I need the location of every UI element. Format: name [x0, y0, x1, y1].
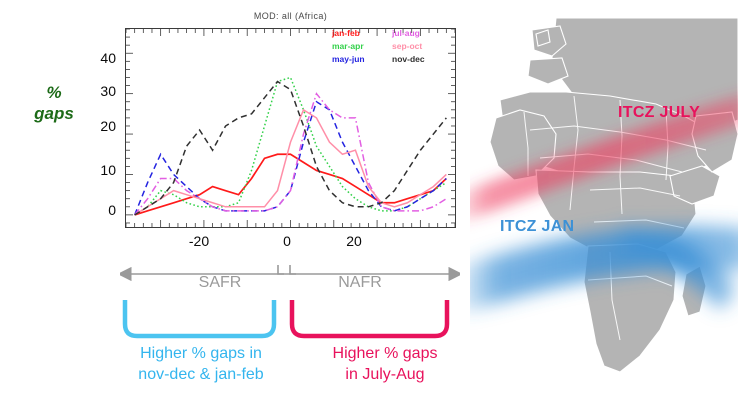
annotation-safr: Higher % gaps in nov-dec & jan-feb	[108, 343, 294, 385]
legend-item-mar-apr: mar-apr	[332, 41, 392, 54]
y-axis-caption: % gaps	[18, 82, 90, 124]
x-tick-label-0: 0	[264, 233, 310, 249]
x-tick-label-20: 20	[331, 233, 377, 249]
y-tick-label-0: 0	[86, 202, 116, 218]
legend-item-nov-dec: nov-dec	[392, 54, 456, 67]
x-tick-label-neg20: -20	[176, 233, 222, 249]
chart-legend: jan-feb jul-aug mar-apr sep-oct may-jun …	[332, 28, 456, 68]
legend-item-sep-oct: sep-oct	[392, 41, 456, 54]
itcz-jan-label: ITCZ JAN	[500, 218, 574, 236]
y-tick-label-10: 10	[86, 162, 116, 178]
africa-map	[470, 0, 738, 419]
region-label-safr: SAFR	[160, 274, 280, 292]
y-tick-label-40: 40	[86, 50, 116, 66]
legend-item-jul-aug: jul-aug	[392, 28, 456, 41]
region-axis: SAFR NAFR	[120, 262, 460, 302]
annotation-safr-line2: nov-dec & jan-feb	[108, 364, 294, 385]
figure-root: % gaps MOD: all (Africa) 40 30 20 10 0 -…	[0, 0, 738, 419]
series-line-may-jun	[135, 102, 447, 215]
annotation-nafr: Higher % gaps in July-Aug	[300, 343, 470, 385]
annotation-nafr-line2: in July-Aug	[300, 364, 470, 385]
itcz-july-label: ITCZ JULY	[618, 104, 700, 122]
chart-panel: % gaps MOD: all (Africa) 40 30 20 10 0 -…	[0, 0, 470, 419]
region-label-nafr: NAFR	[300, 274, 420, 292]
legend-item-may-jun: may-jun	[332, 54, 392, 67]
series-lines	[135, 77, 447, 214]
series-line-mar-apr	[135, 77, 447, 214]
map-panel: ITCZ JULY ITCZ JAN	[470, 0, 738, 419]
series-line-nov-dec	[135, 82, 447, 215]
brackets-svg	[112, 300, 462, 340]
region-brackets	[112, 300, 462, 340]
y-axis-caption-line1: %	[18, 82, 90, 103]
bracket-safr	[125, 300, 274, 336]
y-axis-caption-line2: gaps	[18, 103, 90, 124]
chart-title: MOD: all (Africa)	[125, 11, 456, 21]
y-tick-label-30: 30	[86, 83, 116, 99]
bracket-nafr	[292, 300, 447, 336]
annotation-safr-line1: Higher % gaps in	[108, 343, 294, 364]
legend-item-jan-feb: jan-feb	[332, 28, 392, 41]
y-tick-label-20: 20	[86, 118, 116, 134]
annotation-nafr-line1: Higher % gaps	[300, 343, 470, 364]
